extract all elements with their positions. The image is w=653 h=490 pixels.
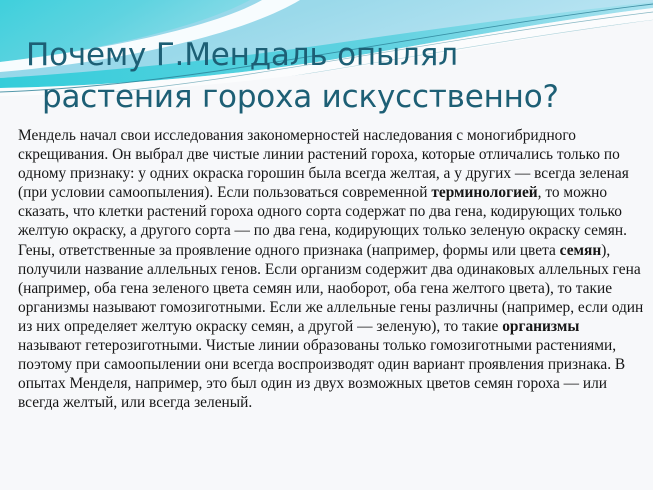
slide: Почему Г.Мендаль опылял растения гороха … [0, 0, 653, 490]
body-paragraph: Мендель начал свои исследования закономе… [18, 126, 644, 412]
page-title: Почему Г.Мендаль опылял растения гороха … [0, 34, 653, 118]
body-text-emphasis: семян [560, 242, 602, 259]
page-title-line-2: растения гороха искусственно? [26, 76, 635, 118]
body-text: Мендель начал свои исследования закономе… [18, 126, 644, 412]
body-text-run: называют гетерозиготными. Чистые линии о… [18, 337, 625, 411]
body-text-emphasis: терминологией [431, 184, 537, 201]
body-text-emphasis: организмы [502, 318, 579, 335]
page-title-line-1: Почему Г.Мендаль опылял [26, 34, 635, 76]
